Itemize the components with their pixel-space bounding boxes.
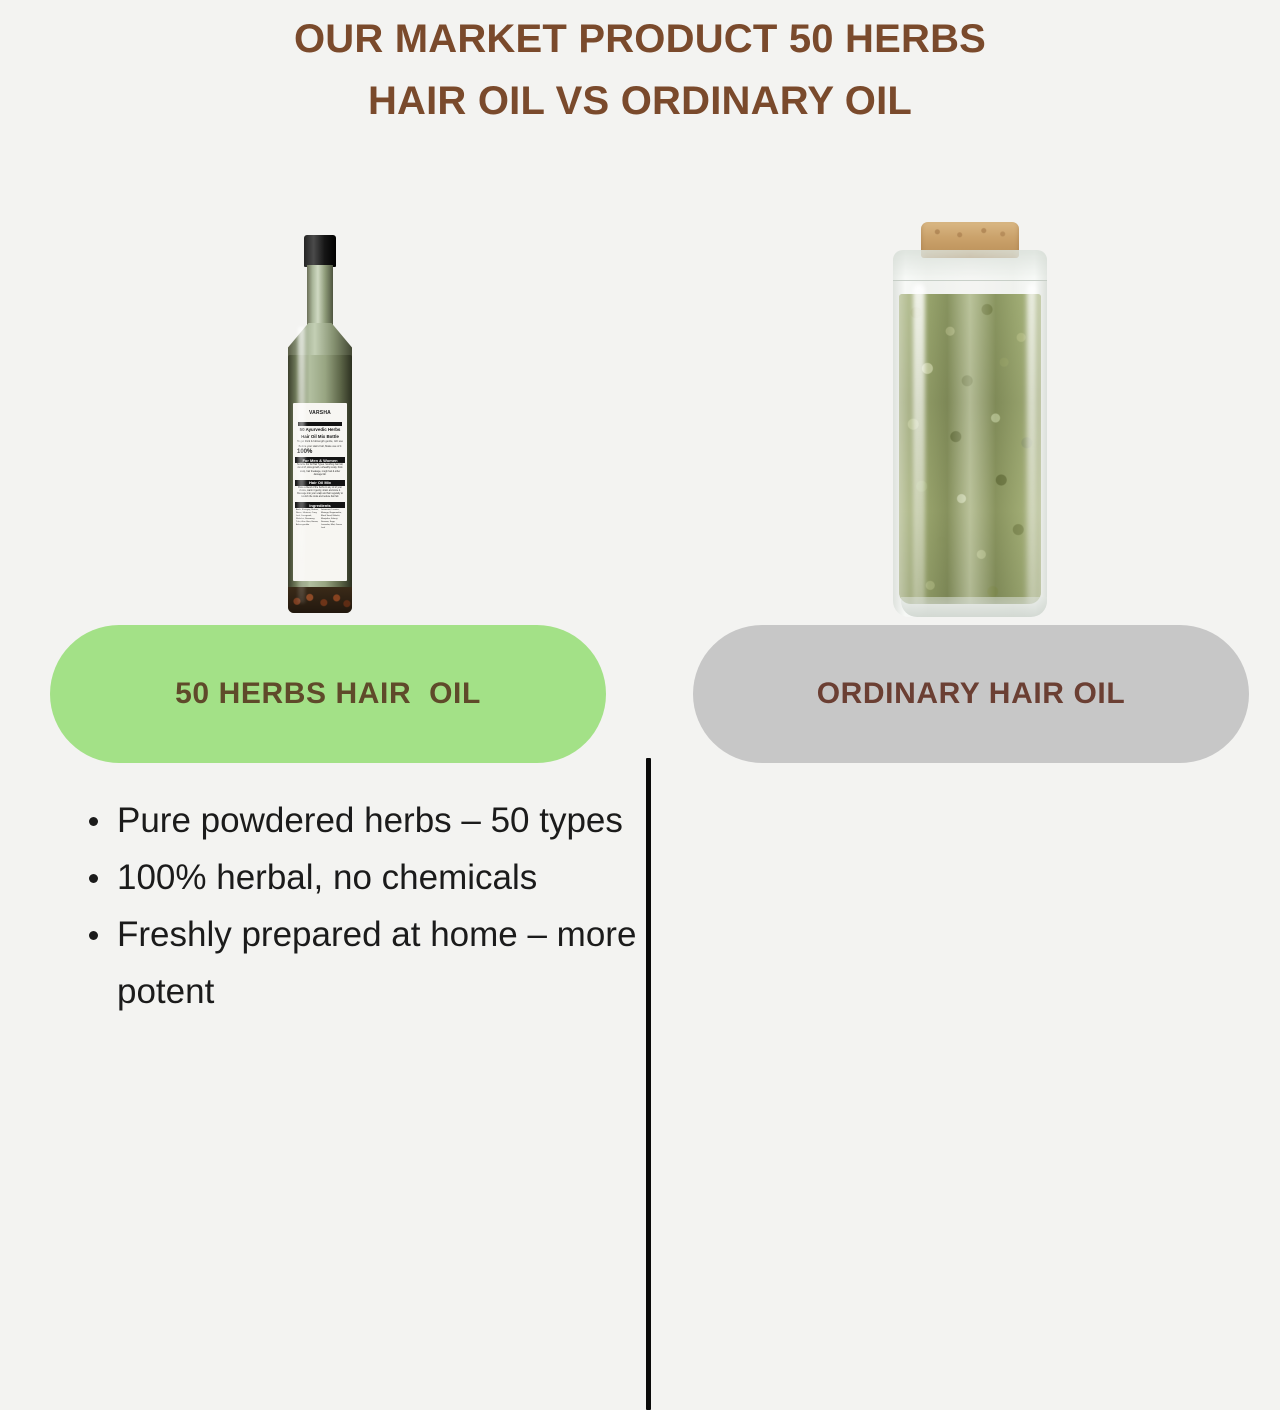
- label-title-line-2: Hair Oil Mix Bottle: [295, 434, 345, 440]
- label-subtitle: To get thick & full-length gentle, rich …: [295, 440, 345, 444]
- page-title: OUR MARKET PRODUCT 50 HERBS HAIR OIL VS …: [0, 8, 1280, 132]
- jar-herb-contents: [899, 294, 1041, 604]
- label-section-2-body: Make a blend of the herbs in any oil of …: [295, 486, 345, 500]
- pill-label-text: 50 HERBS HAIR OIL: [175, 677, 481, 711]
- label-section-1-body: Suitable For All Hair Types. Soothing ha…: [295, 463, 345, 477]
- title-line-1: OUR MARKET PRODUCT 50 HERBS: [0, 8, 1280, 70]
- list-item: 100% herbal, no chemicals: [82, 849, 638, 906]
- column-ordinary-hair-oil: ORDINARY HAIR OIL Mostly oil + fragrance…: [640, 200, 1280, 1280]
- label-section-1-heading: For Men & Women: [295, 457, 345, 463]
- column-divider: [646, 758, 651, 1410]
- label-title-line-1: 50 Ayurvedic Herbs: [295, 427, 345, 433]
- left-product-stage: VARSHA 50 Ayurvedic Herbs Hair Oil Mix B…: [0, 200, 640, 625]
- label-divider-bar: [298, 422, 342, 426]
- label-note: Before your Hairs Fall, Make use of it: [295, 445, 345, 449]
- bullet-list-50-herbs: Pure powdered herbs – 50 types 100% herb…: [82, 792, 638, 1020]
- list-item: Freshly prepared at home – more potent: [82, 906, 638, 1020]
- label-brand: VARSHA: [295, 405, 345, 421]
- label-ingredients-column-1: Amla, Bhringraj, Brahmi, Neem, Hibiscus,…: [296, 509, 319, 529]
- title-line-2: HAIR OIL VS ORDINARY OIL: [0, 70, 1280, 132]
- bottle-product-label: VARSHA 50 Ayurvedic Herbs Hair Oil Mix B…: [293, 403, 347, 581]
- bottle-shoulder: [288, 323, 352, 357]
- bottle-neck: [307, 265, 333, 327]
- pill-label-text: ORDINARY HAIR OIL: [817, 677, 1126, 711]
- bottle-body: VARSHA 50 Ayurvedic Herbs Hair Oil Mix B…: [288, 355, 352, 613]
- jar-neck-ring: [893, 250, 1047, 281]
- jar-glass-body: [893, 250, 1047, 617]
- jar-base: [901, 597, 1047, 617]
- oil-bottle-icon: VARSHA 50 Ayurvedic Herbs Hair Oil Mix B…: [272, 235, 368, 617]
- label-percent: 100%: [295, 449, 345, 455]
- bottle-sediment: [288, 587, 352, 613]
- herb-jar-icon: [885, 222, 1055, 617]
- label-pill-50-herbs-hair-oil: 50 HERBS HAIR OIL: [50, 625, 606, 763]
- label-pill-ordinary-hair-oil: ORDINARY HAIR OIL: [693, 625, 1249, 763]
- label-ingredients-column-2: Jatamansi, Licorice, Moringa, Nagarmotha…: [321, 509, 344, 529]
- comparison-columns: VARSHA 50 Ayurvedic Herbs Hair Oil Mix B…: [0, 200, 1280, 1280]
- label-ingredients: Amla, Bhringraj, Brahmi, Neem, Hibiscus,…: [295, 508, 345, 530]
- bottle-cap: [304, 235, 336, 267]
- list-item: Pure powdered herbs – 50 types: [82, 792, 638, 849]
- right-product-stage: [640, 200, 1280, 625]
- column-50-herbs-hair-oil: VARSHA 50 Ayurvedic Herbs Hair Oil Mix B…: [0, 200, 640, 1280]
